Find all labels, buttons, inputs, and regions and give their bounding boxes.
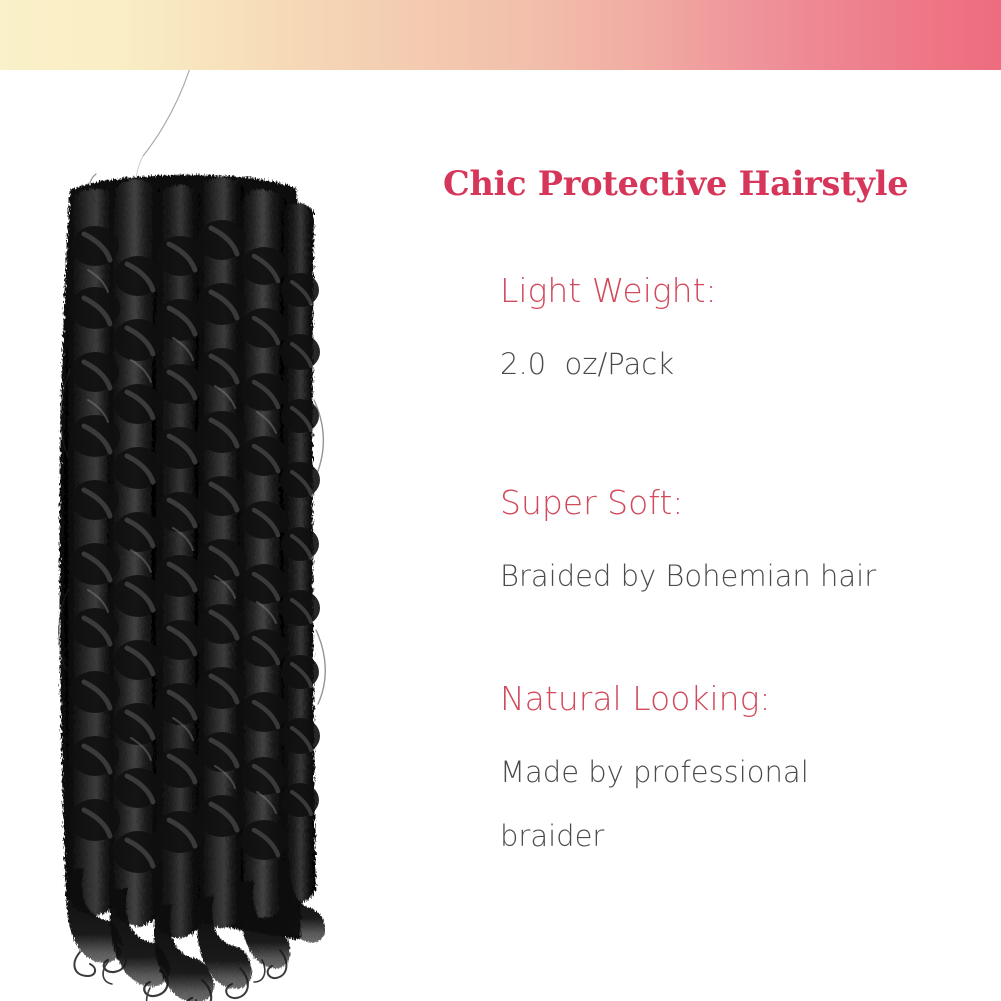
feature-body: 2.0 oz/Pack [500,332,980,396]
product-info-panel: Chic Protective Hairstyle Light Weight: … [420,70,1001,1001]
feature-body: Made by professional braider [500,740,980,868]
feature-heading: Super Soft: [500,482,980,524]
product-image [0,70,420,1001]
feature-heading: Light Weight: [500,270,980,312]
feature-body: Braided by Bohemian hair [500,544,980,608]
page-title: Chic Protective Hairstyle [443,164,983,203]
feature-super-soft: Super Soft: Braided by Bohemian hair [500,482,980,608]
feature-heading: Natural Looking: [500,678,980,720]
feature-natural-looking: Natural Looking: Made by professional br… [500,678,980,868]
top-gradient-banner [0,0,1001,70]
feature-light-weight: Light Weight: 2.0 oz/Pack [500,270,980,396]
